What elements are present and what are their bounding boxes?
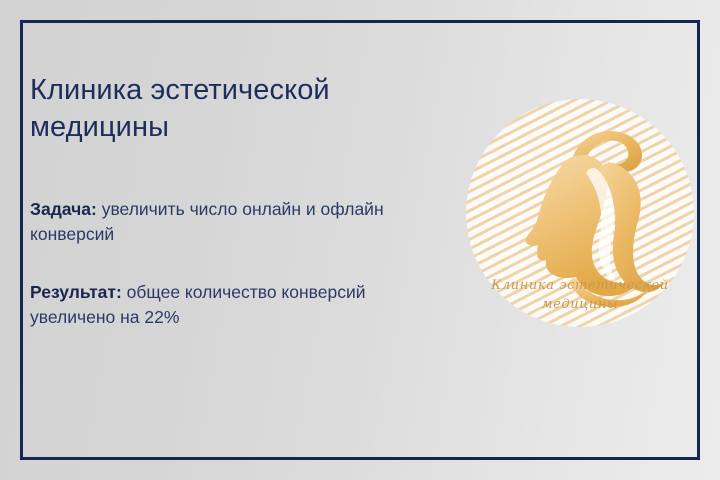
slide-canvas: Клиника эстетической медицины Задача: ув… xyxy=(0,0,720,480)
result-label: Результат: xyxy=(30,282,122,302)
page-title: Клиника эстетической медицины xyxy=(30,72,450,146)
logo-caption: Клиника эстетической медицины xyxy=(466,277,694,315)
task-label: Задача: xyxy=(30,199,97,219)
clinic-logo: Клиника эстетической медицины xyxy=(466,99,694,327)
result-paragraph: Результат: общее количество конверсий ув… xyxy=(30,280,450,330)
task-paragraph: Задача: увеличить число онлайн и офлайн … xyxy=(30,197,450,247)
text-content-block: Клиника эстетической медицины Задача: ув… xyxy=(30,72,450,330)
